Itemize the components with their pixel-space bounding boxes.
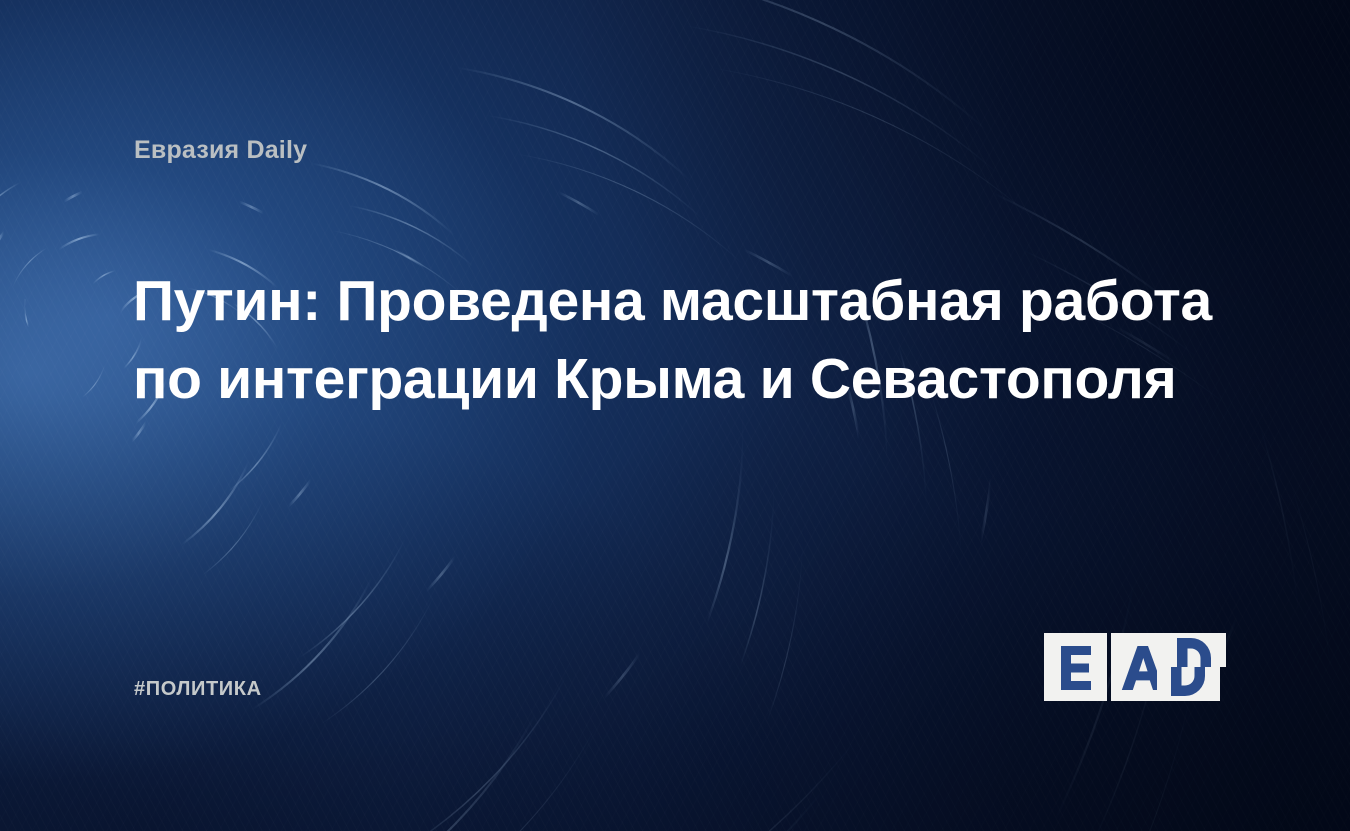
page-title: Путин: Проведена масштабная работа по ин… bbox=[133, 262, 1208, 418]
category-tag: #ПОЛИТИКА bbox=[134, 678, 262, 701]
share-card: Евразия Daily Путин: Проведена масштабна… bbox=[0, 0, 1350, 831]
logo-tile-e bbox=[1044, 633, 1107, 701]
eadaily-logo bbox=[1044, 633, 1226, 701]
headline-line-1: Путин: Проведена масштабная работа bbox=[133, 262, 1208, 340]
brand-wordmark: Евразия Daily bbox=[134, 136, 307, 165]
logo-tile-d bbox=[1157, 633, 1226, 701]
headline-line-2: по интеграции Крыма и Севастополя bbox=[133, 340, 1208, 418]
card-content: Евразия Daily Путин: Проведена масштабна… bbox=[0, 0, 1350, 831]
